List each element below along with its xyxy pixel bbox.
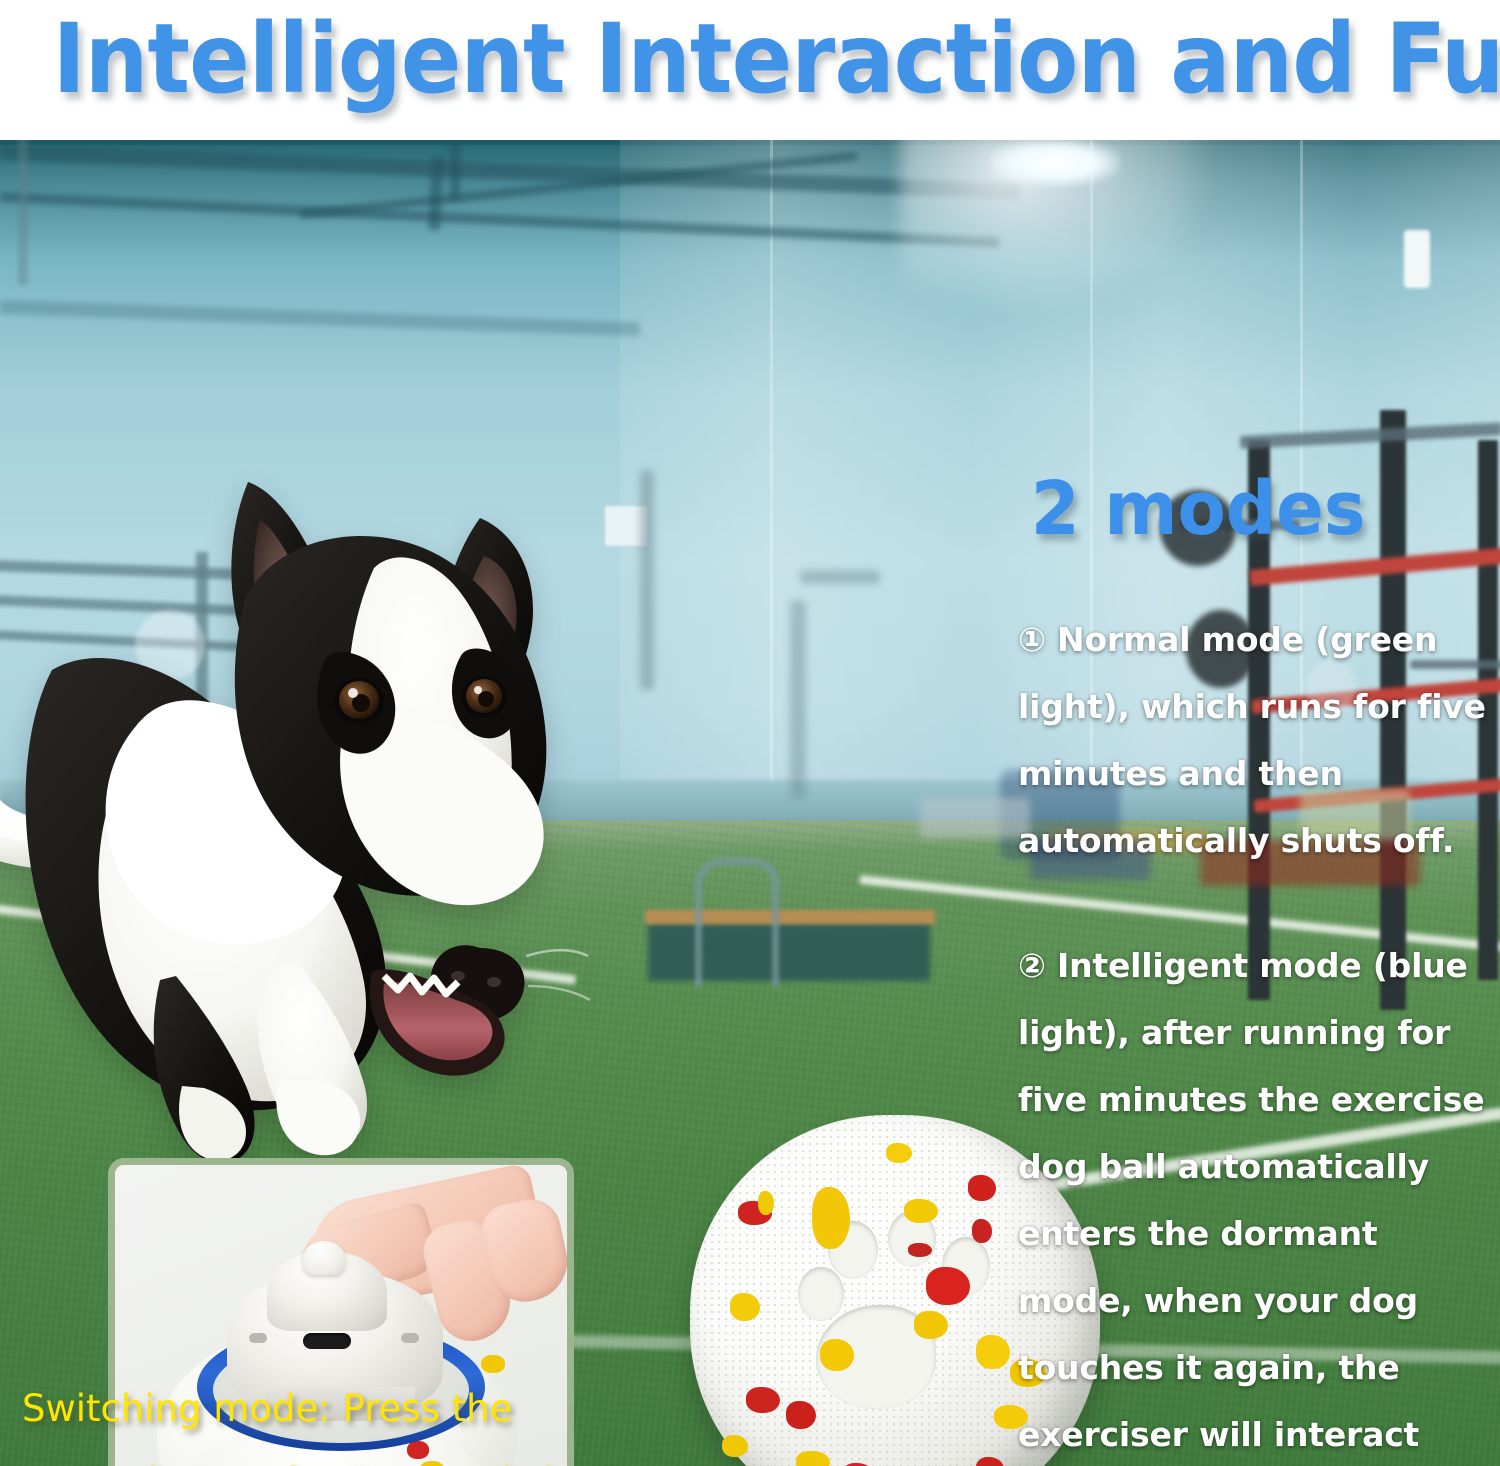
ball-spot-yellow — [758, 1191, 774, 1215]
switching-mode-caption: Switching mode: Press the power button f… — [22, 1372, 622, 1466]
product-infographic: Intelligent Interaction and Fun — [0, 0, 1500, 1466]
ball-spot-red — [926, 1267, 970, 1305]
page-title: Intelligent Interaction and Fun — [53, 0, 1448, 124]
title-banner: Intelligent Interaction and Fun — [0, 0, 1500, 140]
ball-spot-yellow — [886, 1143, 912, 1163]
ball-spot-red — [786, 1401, 816, 1429]
ball-spot-yellow — [812, 1187, 850, 1249]
modes-heading: 2 modes — [1031, 466, 1366, 552]
border-collie-dog — [0, 370, 600, 1190]
mode-1-description: ① Normal mode (green light), which runs … — [1018, 606, 1488, 874]
ceiling-hanger — [450, 140, 460, 200]
module-screw — [249, 1333, 267, 1343]
wall-device — [1404, 230, 1430, 288]
gym-bench-top — [645, 910, 935, 924]
ball-spot-red — [746, 1387, 780, 1413]
ball-spot-red — [908, 1243, 932, 1257]
usb-c-port — [303, 1333, 351, 1349]
gym-bench-base — [648, 923, 930, 981]
ball-spot-yellow — [730, 1293, 760, 1321]
hero-photo: 2 modes ① Normal mode (green light), whi… — [0, 140, 1500, 1466]
background-pole — [790, 600, 806, 800]
ball-spot-red — [968, 1175, 996, 1201]
ceiling-light — [990, 140, 1120, 186]
ball-spot-yellow — [904, 1199, 938, 1223]
hanging-cable — [18, 140, 28, 285]
rig-accessory — [920, 798, 1030, 838]
module-screw — [401, 1333, 419, 1343]
ball-spot-red — [972, 1219, 992, 1243]
ball-spot-yellow — [722, 1435, 748, 1457]
ball-spot-yellow — [820, 1339, 854, 1371]
power-button[interactable] — [303, 1241, 345, 1275]
wall-seam — [770, 140, 773, 840]
mode-2-description: ② Intelligent mode (blue light), after r… — [1018, 932, 1488, 1466]
gym-bench-rail — [695, 858, 779, 987]
background-bar — [800, 570, 880, 584]
paw-print-toe — [798, 1267, 844, 1321]
background-pole — [640, 470, 654, 690]
ball-spot-yellow — [976, 1335, 1010, 1369]
ball-spot-yellow — [914, 1311, 948, 1339]
foam-spot-yellow — [481, 1355, 505, 1373]
